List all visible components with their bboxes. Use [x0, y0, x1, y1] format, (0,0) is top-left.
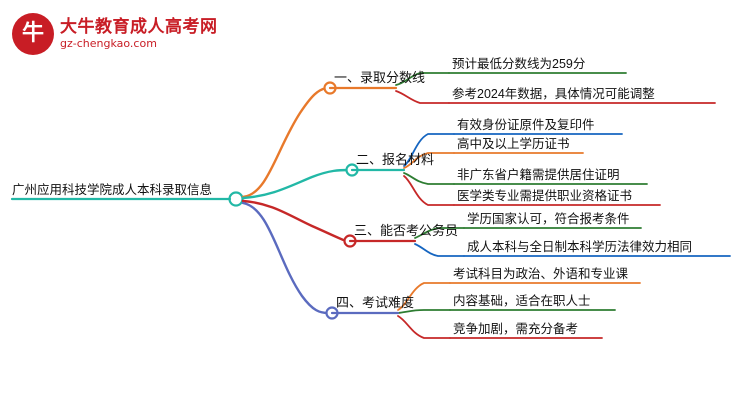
leaf-label-4-1[interactable]: 考试科目为政治、外语和专业课	[453, 266, 628, 282]
mindmap-canvas	[0, 0, 750, 410]
leaf-connector-1-2	[396, 91, 449, 103]
leaf-connector-3-2	[415, 244, 464, 256]
logo-title: 大牛教育成人高考网	[60, 17, 218, 37]
leaf-label-4-2[interactable]: 内容基础，适合在职人士	[453, 293, 591, 309]
trunk-branch-3	[243, 201, 346, 241]
leaf-label-1-2[interactable]: 参考2024年数据，具体情况可能调整	[452, 86, 655, 102]
leaf-label-3-1[interactable]: 学历国家认可，符合报考条件	[467, 211, 630, 227]
bull-logo-icon: 牛	[12, 13, 54, 55]
site-logo[interactable]: 牛 大牛教育成人高考网 gz-chengkao.com	[12, 8, 192, 60]
leaf-connector-2-4	[404, 176, 454, 205]
branch-label-3[interactable]: 三、能否考公务员	[354, 223, 458, 239]
trunk-branch-4	[243, 203, 328, 313]
branch-label-4[interactable]: 四、考试难度	[336, 295, 414, 311]
leaf-label-2-3[interactable]: 非广东省户籍需提供居住证明	[457, 167, 620, 183]
trunk-branch-2	[243, 170, 348, 198]
logo-subtitle: gz-chengkao.com	[60, 37, 218, 51]
leaf-label-3-2[interactable]: 成人本科与全日制本科学历法律效力相同	[467, 239, 692, 255]
branch-label-2[interactable]: 二、报名材料	[356, 152, 434, 168]
leaf-label-1-1[interactable]: 预计最低分数线为259分	[452, 56, 585, 72]
leaf-label-2-4[interactable]: 医学类专业需提供职业资格证书	[457, 188, 632, 204]
leaf-connector-2-3	[404, 173, 454, 184]
leaf-label-2-2[interactable]: 高中及以上学历证书	[457, 136, 570, 152]
branch-label-1[interactable]: 一、录取分数线	[334, 70, 425, 86]
leaf-label-4-3[interactable]: 竞争加剧，需充分备考	[453, 321, 578, 337]
leaf-label-2-1[interactable]: 有效身份证原件及复印件	[457, 117, 595, 133]
root-node-label[interactable]: 广州应用科技学院成人本科录取信息	[12, 182, 212, 198]
bull-logo-glyph: 牛	[12, 13, 54, 55]
trunk-branch-1	[243, 88, 326, 197]
root-node-dot[interactable]	[230, 193, 243, 206]
leaf-connector-4-3	[398, 316, 450, 338]
